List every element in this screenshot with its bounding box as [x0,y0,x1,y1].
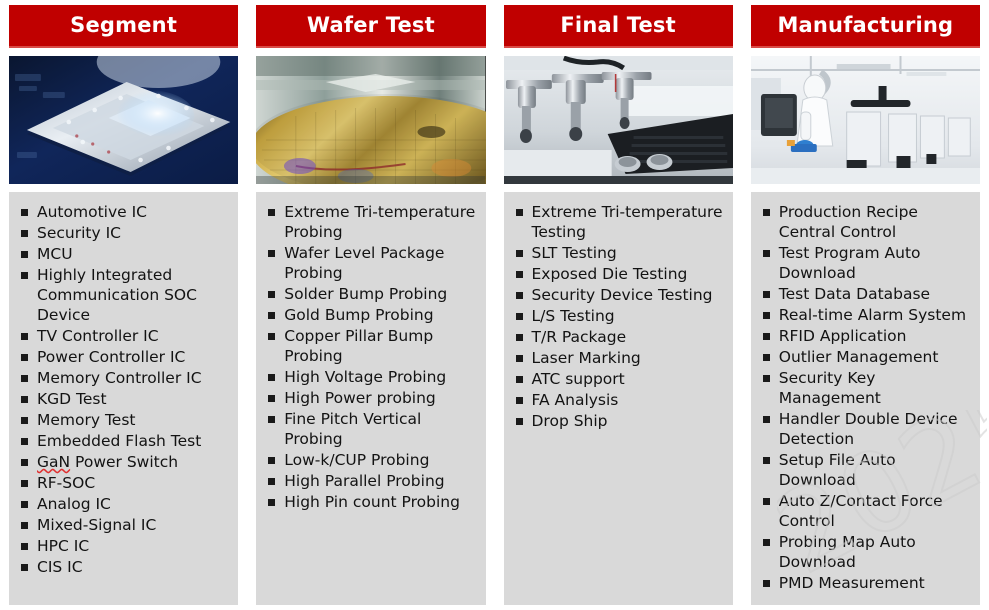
square-bullet-icon [763,498,770,505]
list-item-label: HPC IC [37,537,89,555]
list-item: RFID Application [759,326,974,346]
list-item-label: Setup File Auto Download [779,451,896,489]
list-item: Security Device Testing [512,285,727,305]
square-bullet-icon [268,374,275,381]
square-bullet-icon [516,355,523,362]
list-item-label: Test Data Database [779,285,930,303]
square-bullet-icon [268,395,275,402]
column-manufacturing: Manufacturing [742,0,989,610]
list-item-label: T/R Package [532,328,627,346]
list-item: PMD Measurement [759,573,974,593]
list-item-label: RF-SOC [37,474,95,492]
square-bullet-icon [763,457,770,464]
list-item-label: Analog IC [37,495,111,513]
list-item: Solder Bump Probing [264,284,479,304]
list-item: High Power probing [264,388,479,408]
list-item: Security IC [17,223,232,243]
square-bullet-icon [268,333,275,340]
list-item-label-misspelled: GaN [37,453,70,471]
bullet-list-final-test: Extreme Tri-temperature TestingSLT Testi… [512,202,727,431]
list-item-label: Security Key Management [779,369,881,407]
list-item: High Voltage Probing [264,367,479,387]
list-item: KGD Test [17,389,232,409]
square-bullet-icon [21,501,28,508]
square-bullet-icon [516,334,523,341]
list-item: Fine Pitch Vertical Probing [264,409,479,449]
square-bullet-icon [763,250,770,257]
square-bullet-icon [21,564,28,571]
segment-capability-board: Segment [0,0,989,610]
square-bullet-icon [763,354,770,361]
list-item: CIS IC [17,557,232,577]
list-item-label: CIS IC [37,558,83,576]
square-bullet-icon [516,418,523,425]
list-item-label: Test Program Auto Download [779,244,921,282]
list-item-label: High Parallel Probing [284,472,444,490]
square-bullet-icon [21,230,28,237]
square-bullet-icon [21,396,28,403]
list-item-label: Highly Integrated Communication SOC Devi… [37,266,197,324]
list-item: Handler Double Device Detection [759,409,974,449]
square-bullet-icon [268,416,275,423]
list-item: Wafer Level Package Probing [264,243,479,283]
square-bullet-icon [21,543,28,550]
square-bullet-icon [268,499,275,506]
list-item-label: Extreme Tri-temperature Probing [284,203,475,241]
list-item-label: Power Switch [70,453,178,471]
list-item: Test Data Database [759,284,974,304]
list-item: Test Program Auto Download [759,243,974,283]
list-item-label: Embedded Flash Test [37,432,201,450]
list-item: L/S Testing [512,306,727,326]
list-item: HPC IC [17,536,232,556]
list-item-label: Extreme Tri-temperature Testing [532,203,723,241]
square-bullet-icon [516,271,523,278]
square-bullet-icon [21,333,28,340]
column-header-manufacturing: Manufacturing [751,5,980,48]
list-item: Highly Integrated Communication SOC Devi… [17,265,232,325]
list-item-label: ATC support [532,370,625,388]
square-bullet-icon [21,209,28,216]
column-final-test: Final Test [495,0,742,610]
list-item-label: SLT Testing [532,244,617,262]
list-item: Exposed Die Testing [512,264,727,284]
list-item: Probing Map Auto Download [759,532,974,572]
square-bullet-icon [268,250,275,257]
list-item-label: TV Controller IC [37,327,159,345]
square-bullet-icon [516,376,523,383]
list-item: Auto Z/Contact Force Control [759,491,974,531]
list-item: High Pin count Probing [264,492,479,512]
list-item: T/R Package [512,327,727,347]
list-item-label: Production Recipe Central Control [779,203,918,241]
column-header-segment: Segment [9,5,238,48]
square-bullet-icon [763,375,770,382]
list-item: Mixed-Signal IC [17,515,232,535]
list-item: High Parallel Probing [264,471,479,491]
list-item: Outlier Management [759,347,974,367]
list-item: Low-k/CUP Probing [264,450,479,470]
list-item-label: Mixed-Signal IC [37,516,156,534]
square-bullet-icon [21,375,28,382]
list-item-label: Gold Bump Probing [284,306,433,324]
list-item: Gold Bump Probing [264,305,479,325]
column-segment: Segment [0,0,247,610]
list-item: Drop Ship [512,411,727,431]
list-item-label: RFID Application [779,327,907,345]
bullet-panel-final-test: Extreme Tri-temperature TestingSLT Testi… [504,192,733,605]
list-item-label: Drop Ship [532,412,608,430]
list-item: GaN Power Switch [17,452,232,472]
square-bullet-icon [268,209,275,216]
list-item-label: Security Device Testing [532,286,713,304]
list-item-label: Probing Map Auto Download [779,533,916,571]
list-item-label: Exposed Die Testing [532,265,688,283]
square-bullet-icon [268,457,275,464]
square-bullet-icon [763,416,770,423]
list-item-label: Real-time Alarm System [779,306,966,324]
list-item: Embedded Flash Test [17,431,232,451]
list-item-label: High Pin count Probing [284,493,460,511]
processor-chip-photo [9,56,238,184]
list-item-label: High Voltage Probing [284,368,446,386]
list-item: Power Controller IC [17,347,232,367]
list-item: RF-SOC [17,473,232,493]
square-bullet-icon [21,251,28,258]
list-item: Production Recipe Central Control [759,202,974,242]
silicon-wafer-photo [256,56,485,184]
square-bullet-icon [21,480,28,487]
bullet-panel-wafer-test: Extreme Tri-temperature ProbingWafer Lev… [256,192,485,605]
column-header-wafer-test: Wafer Test [256,5,485,48]
list-item-label: Security IC [37,224,121,242]
list-item-label: Memory Test [37,411,136,429]
square-bullet-icon [763,580,770,587]
square-bullet-icon [516,209,523,216]
square-bullet-icon [763,312,770,319]
list-item: Extreme Tri-temperature Probing [264,202,479,242]
square-bullet-icon [21,272,28,279]
bullet-list-manufacturing: Production Recipe Central ControlTest Pr… [759,202,974,593]
list-item: ATC support [512,369,727,389]
square-bullet-icon [516,313,523,320]
list-item: Security Key Management [759,368,974,408]
square-bullet-icon [516,397,523,404]
bullet-panel-segment: Automotive ICSecurity ICMCUHighly Integr… [9,192,238,605]
list-item-label: Wafer Level Package Probing [284,244,444,282]
list-item: Setup File Auto Download [759,450,974,490]
square-bullet-icon [516,250,523,257]
list-item: Laser Marking [512,348,727,368]
list-item-label: Copper Pillar Bump Probing [284,327,433,365]
list-item: MCU [17,244,232,264]
list-item: Copper Pillar Bump Probing [264,326,479,366]
square-bullet-icon [268,291,275,298]
square-bullet-icon [763,539,770,546]
list-item-label: Laser Marking [532,349,641,367]
square-bullet-icon [268,478,275,485]
list-item: Real-time Alarm System [759,305,974,325]
list-item-label: L/S Testing [532,307,615,325]
list-item-label: Auto Z/Contact Force Control [779,492,943,530]
list-item-label: Power Controller IC [37,348,185,366]
list-item-label: FA Analysis [532,391,619,409]
cleanroom-operator-photo [751,56,980,184]
list-item-label: Memory Controller IC [37,369,202,387]
list-item-label: PMD Measurement [779,574,925,592]
pick-and-place-nozzles-photo [504,56,733,184]
list-item-label: Outlier Management [779,348,939,366]
list-item: SLT Testing [512,243,727,263]
list-item-label: Fine Pitch Vertical Probing [284,410,421,448]
bullet-panel-manufacturing: Production Recipe Central ControlTest Pr… [751,192,980,605]
list-item: Extreme Tri-temperature Testing [512,202,727,242]
list-item-label: Low-k/CUP Probing [284,451,429,469]
square-bullet-icon [763,209,770,216]
list-item-label: MCU [37,245,73,263]
square-bullet-icon [21,459,28,466]
square-bullet-icon [21,438,28,445]
square-bullet-icon [21,522,28,529]
list-item: Memory Controller IC [17,368,232,388]
bullet-list-wafer-test: Extreme Tri-temperature ProbingWafer Lev… [264,202,479,512]
square-bullet-icon [763,291,770,298]
list-item-label: High Power probing [284,389,436,407]
square-bullet-icon [516,292,523,299]
list-item: Automotive IC [17,202,232,222]
square-bullet-icon [268,312,275,319]
list-item-label: KGD Test [37,390,107,408]
list-item: Analog IC [17,494,232,514]
list-item-label: Handler Double Device Detection [779,410,958,448]
square-bullet-icon [21,417,28,424]
list-item: TV Controller IC [17,326,232,346]
column-header-final-test: Final Test [504,5,733,48]
column-wafer-test: Wafer Test [247,0,494,610]
list-item-label: Solder Bump Probing [284,285,447,303]
list-item: FA Analysis [512,390,727,410]
list-item-label: Automotive IC [37,203,147,221]
bullet-list-segment: Automotive ICSecurity ICMCUHighly Integr… [17,202,232,577]
list-item: Memory Test [17,410,232,430]
square-bullet-icon [763,333,770,340]
square-bullet-icon [21,354,28,361]
